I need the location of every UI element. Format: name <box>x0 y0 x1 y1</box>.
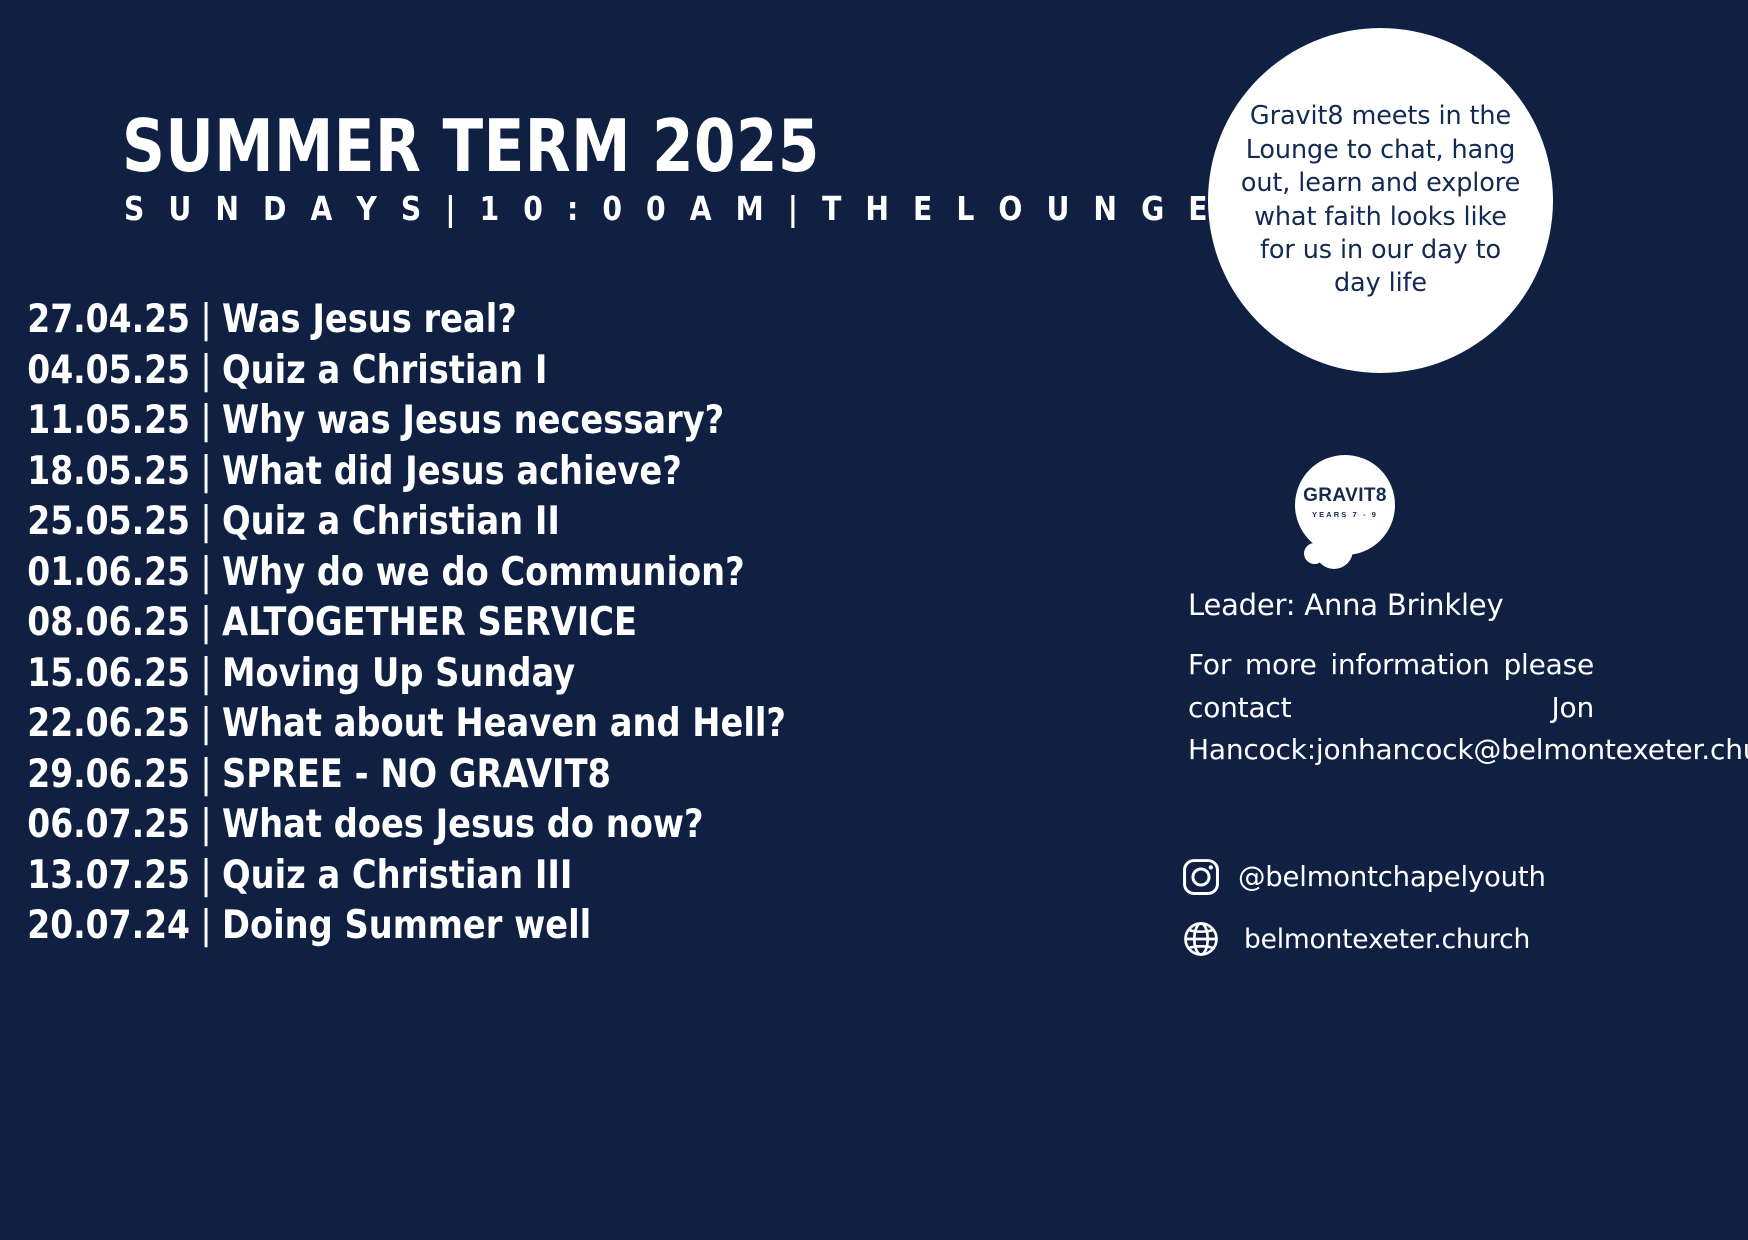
schedule-row: 25.05.25 | Quiz a Christian II <box>0 497 1000 548</box>
schedule-row: 06.07.25 | What does Jesus do now? <box>0 800 1000 851</box>
schedule-date: 18.05.25 <box>11 447 190 498</box>
contact-info: For more information please contact Jon … <box>1188 644 1594 772</box>
schedule-separator: | <box>190 750 222 801</box>
schedule-date: 06.07.25 <box>11 800 190 851</box>
schedule-separator: | <box>190 346 222 397</box>
logo-wordmark: GRAVIT8 <box>1295 486 1395 505</box>
schedule-separator: | <box>190 497 222 548</box>
schedule-list: 27.04.25 | Was Jesus real? 04.05.25 | Qu… <box>0 295 1000 952</box>
schedule-row: 04.05.25 | Quiz a Christian I <box>0 346 1000 397</box>
schedule-row: 20.07.24 | Doing Summer well <box>0 901 1000 952</box>
schedule-separator: | <box>190 699 222 750</box>
schedule-title: Doing Summer well <box>222 901 969 952</box>
schedule-title: SPREE - NO GRAVIT8 <box>222 750 969 801</box>
social-link-website[interactable]: belmontexeter.church <box>1178 916 1530 962</box>
schedule-title: What about Heaven and Hell? <box>222 699 969 750</box>
schedule-separator: | <box>190 901 222 952</box>
schedule-title: Quiz a Christian II <box>222 497 969 548</box>
schedule-date: 29.06.25 <box>11 750 190 801</box>
schedule-separator: | <box>190 295 222 346</box>
schedule-separator: | <box>190 851 222 902</box>
page-subtitle: S U N D A Y S | 1 0 : 0 0 A M | T H E L … <box>124 192 1215 225</box>
page-title: SUMMER TERM 2025 <box>122 110 820 182</box>
schedule-title: What does Jesus do now? <box>222 800 969 851</box>
info-panel: Gravit8 meets in the Lounge to chat, han… <box>1130 0 1748 1240</box>
website-url: belmontexeter.church <box>1244 924 1530 955</box>
schedule-date: 11.05.25 <box>11 396 190 447</box>
schedule-title: What did Jesus achieve? <box>222 447 969 498</box>
blurb-circle: Gravit8 meets in the Lounge to chat, han… <box>1208 28 1553 373</box>
schedule-panel: SUMMER TERM 2025 S U N D A Y S | 1 0 : 0… <box>0 0 1130 1240</box>
schedule-row: 22.06.25 | What about Heaven and Hell? <box>0 699 1000 750</box>
schedule-date: 13.07.25 <box>11 851 190 902</box>
schedule-separator: | <box>190 548 222 599</box>
schedule-date: 25.05.25 <box>11 497 190 548</box>
schedule-title: Quiz a Christian I <box>222 346 969 397</box>
logo-tagline: YEARS 7 - 9 <box>1295 511 1395 519</box>
gravit8-logo: GRAVIT8 YEARS 7 - 9 <box>1295 455 1403 573</box>
schedule-row: 29.06.25 | SPREE - NO GRAVIT8 <box>0 750 1000 801</box>
schedule-separator: | <box>190 598 222 649</box>
schedule-title: Quiz a Christian III <box>222 851 969 902</box>
schedule-date: 22.06.25 <box>11 699 190 750</box>
instagram-handle: @belmontchapelyouth <box>1238 861 1546 893</box>
schedule-row: 08.06.25 | ALTOGETHER SERVICE <box>0 598 1000 649</box>
schedule-date: 20.07.24 <box>11 901 190 952</box>
schedule-row: 18.05.25 | What did Jesus achieve? <box>0 447 1000 498</box>
schedule-row: 27.04.25 | Was Jesus real? <box>0 295 1000 346</box>
schedule-separator: | <box>190 396 222 447</box>
instagram-icon <box>1178 854 1224 900</box>
schedule-date: 01.06.25 <box>11 548 190 599</box>
schedule-row: 13.07.25 | Quiz a Christian III <box>0 851 1000 902</box>
schedule-title: Why was Jesus necessary? <box>222 396 969 447</box>
schedule-date: 27.04.25 <box>11 295 190 346</box>
schedule-date: 15.06.25 <box>11 649 190 700</box>
blurb-text: Gravit8 meets in the Lounge to chat, han… <box>1236 100 1525 300</box>
leader-name: Leader: Anna Brinkley <box>1188 588 1503 623</box>
schedule-title: ALTOGETHER SERVICE <box>222 598 969 649</box>
schedule-row: 15.06.25 | Moving Up Sunday <box>0 649 1000 700</box>
globe-icon <box>1178 916 1224 962</box>
schedule-title: Moving Up Sunday <box>222 649 969 700</box>
schedule-row: 11.05.25 | Why was Jesus necessary? <box>0 396 1000 447</box>
contact-text: For more information please contact Jon … <box>1188 648 1748 766</box>
schedule-row: 01.06.25 | Why do we do Communion? <box>0 548 1000 599</box>
social-link-instagram[interactable]: @belmontchapelyouth <box>1178 854 1546 900</box>
schedule-date: 04.05.25 <box>11 346 190 397</box>
schedule-title: Was Jesus real? <box>222 295 969 346</box>
schedule-separator: | <box>190 800 222 851</box>
schedule-title: Why do we do Communion? <box>222 548 969 599</box>
schedule-separator: | <box>190 649 222 700</box>
schedule-separator: | <box>190 447 222 498</box>
schedule-date: 08.06.25 <box>11 598 190 649</box>
